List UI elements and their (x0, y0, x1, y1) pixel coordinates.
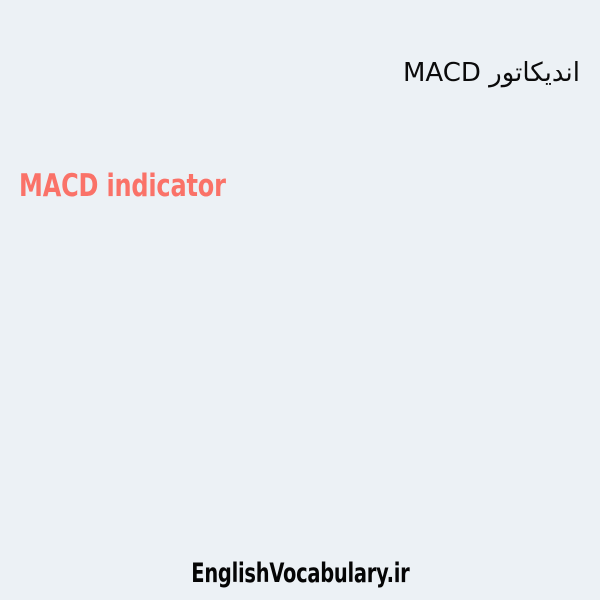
footer: EnglishVocabulary.ir (0, 558, 600, 590)
translation-text: MACD indicator (19, 168, 226, 204)
page-root: اندیکاتور MACD MACD indicator EnglishVoc… (0, 0, 600, 600)
site-brand-watermark: EnglishVocabulary.ir (191, 558, 409, 590)
translation-label: MACD indicator (19, 168, 226, 204)
page-title: اندیکاتور MACD (20, 53, 580, 93)
headword-text: اندیکاتور MACD (403, 53, 580, 93)
content-empty-area (0, 215, 600, 545)
